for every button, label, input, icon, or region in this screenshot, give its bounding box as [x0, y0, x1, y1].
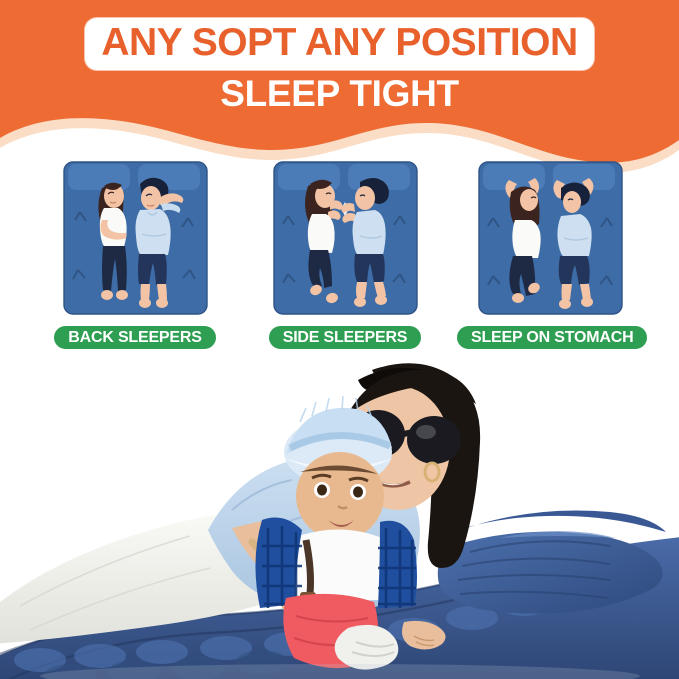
- sleep-position-card-side: SIDE SLEEPERS: [250, 158, 440, 351]
- couple-side-sleeping-icon: [268, 158, 423, 318]
- couple-back-sleeping-icon: [58, 158, 213, 318]
- sleep-position-card-stomach: SLEEP ON STOMACH: [455, 158, 645, 351]
- page-title-line-1: ANY SOPT ANY POSITION: [101, 23, 577, 63]
- title-highlight-box: ANY SOPT ANY POSITION: [85, 18, 593, 70]
- sleep-position-label-back[interactable]: BACK SLEEPERS: [52, 324, 217, 351]
- product-infographic: ANY SOPT ANY POSITION SLEEP TIGHT: [0, 0, 679, 679]
- sleep-position-label-side[interactable]: SIDE SLEEPERS: [267, 324, 424, 351]
- page-title-line-2: SLEEP TIGHT: [0, 74, 679, 114]
- banner-title-group: ANY SOPT ANY POSITION SLEEP TIGHT: [0, 18, 679, 114]
- header-banner: ANY SOPT ANY POSITION SLEEP TIGHT: [0, 0, 679, 175]
- sleep-position-label-stomach[interactable]: SLEEP ON STOMACH: [455, 324, 649, 351]
- lifestyle-product-photo: [0, 360, 679, 679]
- sleep-position-card-back: BACK SLEEPERS: [40, 158, 230, 351]
- couple-stomach-sleeping-icon: [473, 158, 628, 318]
- sleep-position-cards: BACK SLEEPERS: [0, 158, 679, 358]
